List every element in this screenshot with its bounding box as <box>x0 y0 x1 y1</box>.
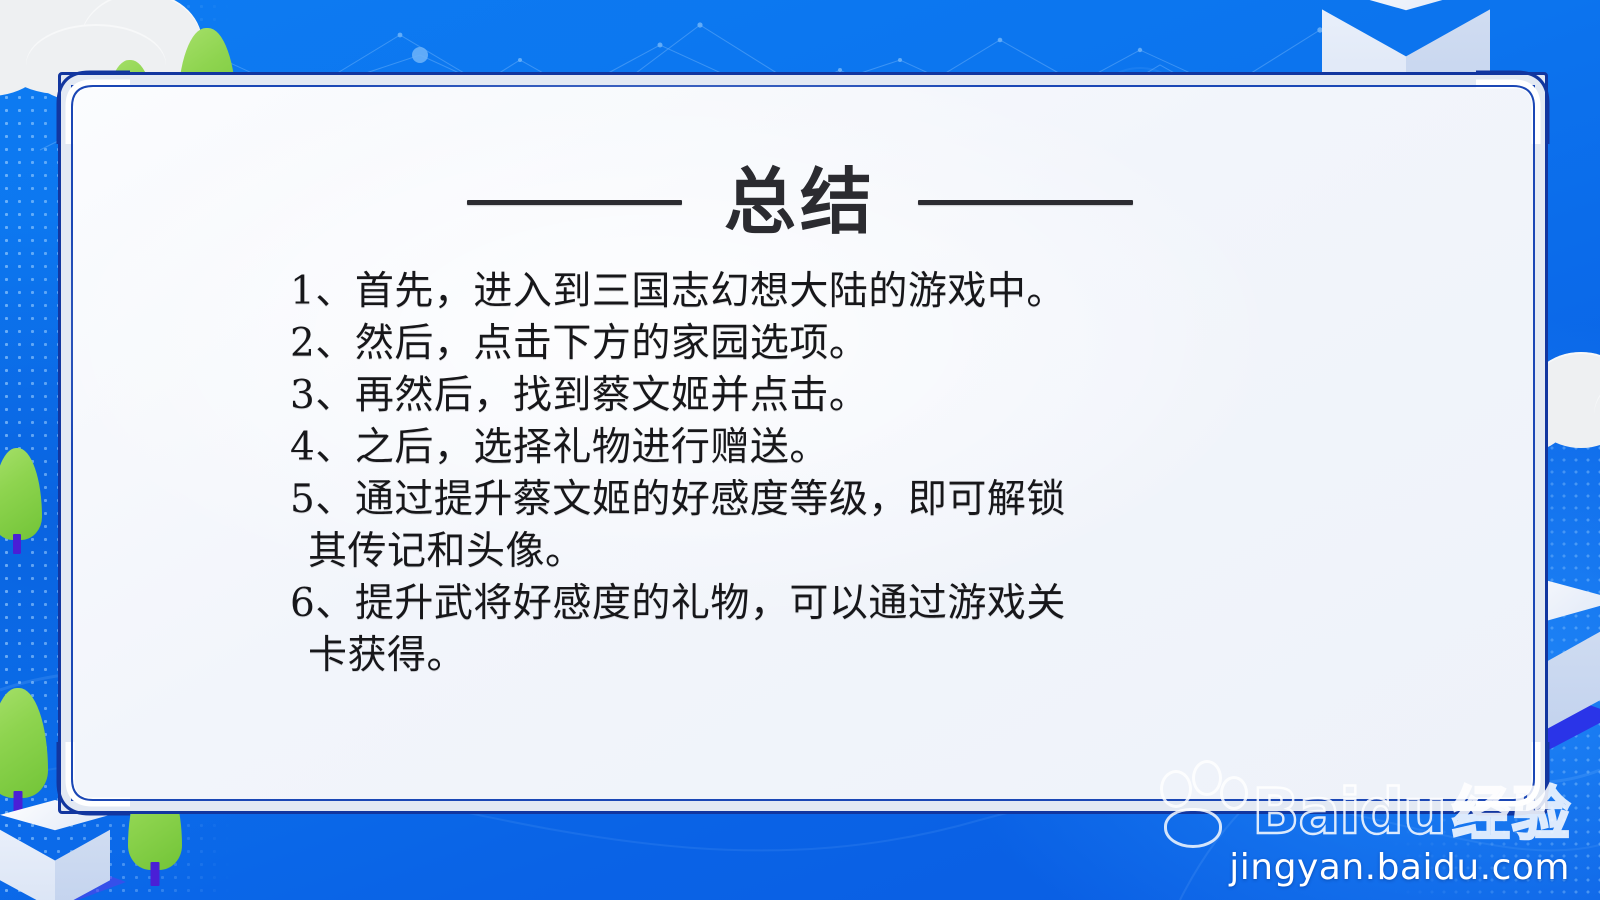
page-title: 总结 <box>724 166 876 238</box>
corner-ornament-bottom-left <box>56 742 130 816</box>
slide-canvas: 总结 1、首先，进入到三国志幻想大陆的游戏中。 2、然后，点击下方的家园选项。 … <box>0 0 1600 900</box>
summary-step-line-continued: 卡获得。 <box>308 630 1290 682</box>
summary-step-line: 1、首先，进入到三国志幻想大陆的游戏中。 <box>290 266 1290 318</box>
summary-step-line: 2、然后，点击下方的家园选项。 <box>290 318 1290 370</box>
corner-ornament-top-left <box>56 70 130 144</box>
summary-steps-list: 1、首先，进入到三国志幻想大陆的游戏中。 2、然后，点击下方的家园选项。 3、再… <box>290 266 1290 682</box>
baidu-paw-icon <box>1150 760 1246 842</box>
summary-step-line: 5、通过提升蔡文姬的好感度等级，即可解锁 <box>290 474 1290 526</box>
summary-step-line-continued: 其传记和头像。 <box>308 526 1290 578</box>
watermark-brand-cn: 经验 <box>1452 787 1572 842</box>
title-row: 总结 <box>0 152 1600 252</box>
baidu-jingyan-watermark: Baidu 经验 <box>1150 760 1572 842</box>
summary-step-line: 3、再然后，找到蔡文姬并点击。 <box>290 370 1290 422</box>
tree-bottom-mid <box>0 448 42 540</box>
watermark-brand-latin: Baidu <box>1252 783 1446 842</box>
summary-step-line: 6、提升武将好感度的礼物，可以通过游戏关 <box>290 578 1290 630</box>
title-rule-left <box>467 200 682 205</box>
title-rule-right <box>918 200 1133 205</box>
summary-step-line: 4、之后，选择礼物进行赠送。 <box>290 422 1290 474</box>
tree-left-mid <box>0 688 48 798</box>
corner-ornament-top-right <box>1476 70 1550 144</box>
watermark-url: jingyan.baidu.com <box>1229 847 1570 888</box>
